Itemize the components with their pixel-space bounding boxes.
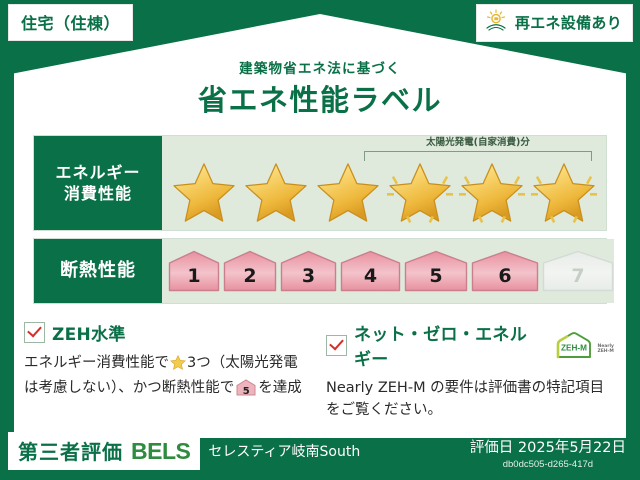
star-rating-item bbox=[384, 162, 456, 222]
insulation-level-badge: 1 bbox=[168, 250, 220, 292]
energy-label-line2: 消費性能 bbox=[64, 183, 132, 204]
insulation-level-badge: 5 bbox=[404, 250, 468, 292]
star-icon bbox=[317, 162, 379, 222]
star-icon bbox=[245, 162, 307, 222]
bels-footer: 第三者評価 BELS セレスティア岐南South bbox=[8, 432, 360, 470]
solar-bracket-label: 太陽光発電(自家消費)分 bbox=[364, 138, 592, 151]
evaluation-date-value: 2025年5月22日 bbox=[518, 440, 626, 456]
net-zero-energy-description: Nearly ZEH-M の要件は評価書の特記項目をご覧ください。 bbox=[326, 377, 614, 422]
star-icon bbox=[170, 355, 186, 377]
zeh-standard-header: ZEH水準 bbox=[24, 320, 312, 345]
energy-performance-row-header: エネルギー 消費性能 bbox=[34, 136, 162, 230]
insulation-level-badge: 7 bbox=[542, 250, 614, 292]
insulation-level-badge: 2 bbox=[223, 250, 277, 292]
insulation-level-badge: 3 bbox=[280, 250, 337, 292]
net-zero-energy-section: ネット・ゼロ・エネルギー ZEH-M Nearly ZEH-M Nearly Z… bbox=[326, 320, 614, 422]
star-rating-item bbox=[528, 162, 600, 222]
net-zero-energy-title: ネット・ゼロ・エネルギー bbox=[354, 320, 543, 370]
zeh-m-sub-line2: ZEH-M bbox=[597, 349, 613, 354]
insulation-level-scale: 1234567 bbox=[162, 250, 614, 292]
zeh-standard-description: エネルギー消費性能で3つ（太陽光発電は考慮しない）、かつ断熱性能で5を達成 bbox=[24, 352, 312, 404]
bels-badge: 第三者評価 BELS bbox=[8, 432, 200, 470]
insulation-level-value: 4 bbox=[364, 265, 377, 292]
inline-house-value: 5 bbox=[236, 384, 256, 400]
solar-sun-icon bbox=[485, 9, 509, 36]
label-subtitle: 建築物省エネ法に基づく bbox=[0, 57, 640, 77]
insulation-level-badge: 6 bbox=[471, 250, 539, 292]
insulation-performance-row: 断熱性能 1234567 bbox=[33, 238, 607, 304]
house-badge-icon: 5 bbox=[236, 379, 256, 403]
energy-performance-label: 住宅（住棟） 再エネ設備あり 建築物省エネ法に基づく 省エネ性能ラベル bbox=[0, 0, 640, 480]
building-name: セレスティア岐南South bbox=[208, 441, 360, 461]
checkbox-checked-icon bbox=[326, 335, 347, 356]
star-rating-item bbox=[456, 162, 528, 222]
energy-performance-row-body: 太陽光発電(自家消費)分 bbox=[162, 136, 606, 230]
zeh-standard-title: ZEH水準 bbox=[52, 320, 126, 345]
insulation-level-value: 6 bbox=[498, 265, 511, 292]
renewable-equipment-tag: 再エネ設備あり bbox=[476, 4, 633, 42]
insulation-level-value: 1 bbox=[187, 265, 200, 292]
label-title: 省エネ性能ラベル bbox=[0, 77, 640, 119]
zeh-desc-part3: を達成 bbox=[258, 380, 302, 396]
star-icon bbox=[533, 162, 595, 222]
third-party-eval-label: 第三者評価 bbox=[18, 436, 123, 465]
insulation-label: 断熱性能 bbox=[60, 259, 136, 283]
evaluation-id: db0dc505-d265-417d bbox=[470, 459, 626, 470]
zeh-standard-section: ZEH水準 エネルギー消費性能で3つ（太陽光発電は考慮しない）、かつ断熱性能で5… bbox=[24, 320, 312, 404]
building-type-tag-label: 住宅（住棟） bbox=[21, 14, 120, 33]
insulation-performance-row-body: 1234567 bbox=[162, 239, 614, 303]
insulation-level-badge: 4 bbox=[340, 250, 401, 292]
insulation-level-value: 2 bbox=[243, 265, 256, 292]
zeh-desc-part1: エネルギー消費性能で bbox=[24, 355, 169, 371]
insulation-level-value: 7 bbox=[571, 265, 584, 292]
evaluation-date-label: 評価日 bbox=[470, 440, 514, 456]
evaluation-info: 評価日 2025年5月22日 db0dc505-d265-417d bbox=[470, 440, 626, 470]
insulation-level-value: 3 bbox=[302, 265, 315, 292]
building-type-tag: 住宅（住棟） bbox=[8, 4, 133, 41]
star-icon bbox=[389, 162, 451, 222]
bels-logo-text: BELS bbox=[131, 438, 190, 465]
insulation-level-value: 5 bbox=[429, 265, 442, 292]
zeh-m-house-logo: ZEH-M Nearly ZEH-M bbox=[555, 332, 614, 359]
zeh-m-logo-subtext: Nearly ZEH-M bbox=[597, 344, 614, 358]
star-rating-item bbox=[240, 162, 312, 222]
checkbox-checked-icon bbox=[24, 322, 45, 343]
star-rating-item bbox=[168, 162, 240, 222]
evaluation-date: 評価日 2025年5月22日 bbox=[470, 440, 626, 457]
star-icon bbox=[173, 162, 235, 222]
energy-label-line1: エネルギー bbox=[55, 162, 140, 183]
insulation-performance-row-header: 断熱性能 bbox=[34, 239, 162, 303]
net-zero-energy-header: ネット・ゼロ・エネルギー ZEH-M Nearly ZEH-M bbox=[326, 320, 614, 370]
renewable-equipment-tag-label: 再エネ設備あり bbox=[515, 12, 622, 33]
svg-text:ZEH-M: ZEH-M bbox=[561, 343, 587, 352]
energy-performance-row: エネルギー 消費性能 太陽光発電(自家消費)分 bbox=[33, 135, 607, 231]
star-rating-item bbox=[312, 162, 384, 222]
solar-bracket-line bbox=[364, 151, 592, 161]
star-icon bbox=[461, 162, 523, 222]
